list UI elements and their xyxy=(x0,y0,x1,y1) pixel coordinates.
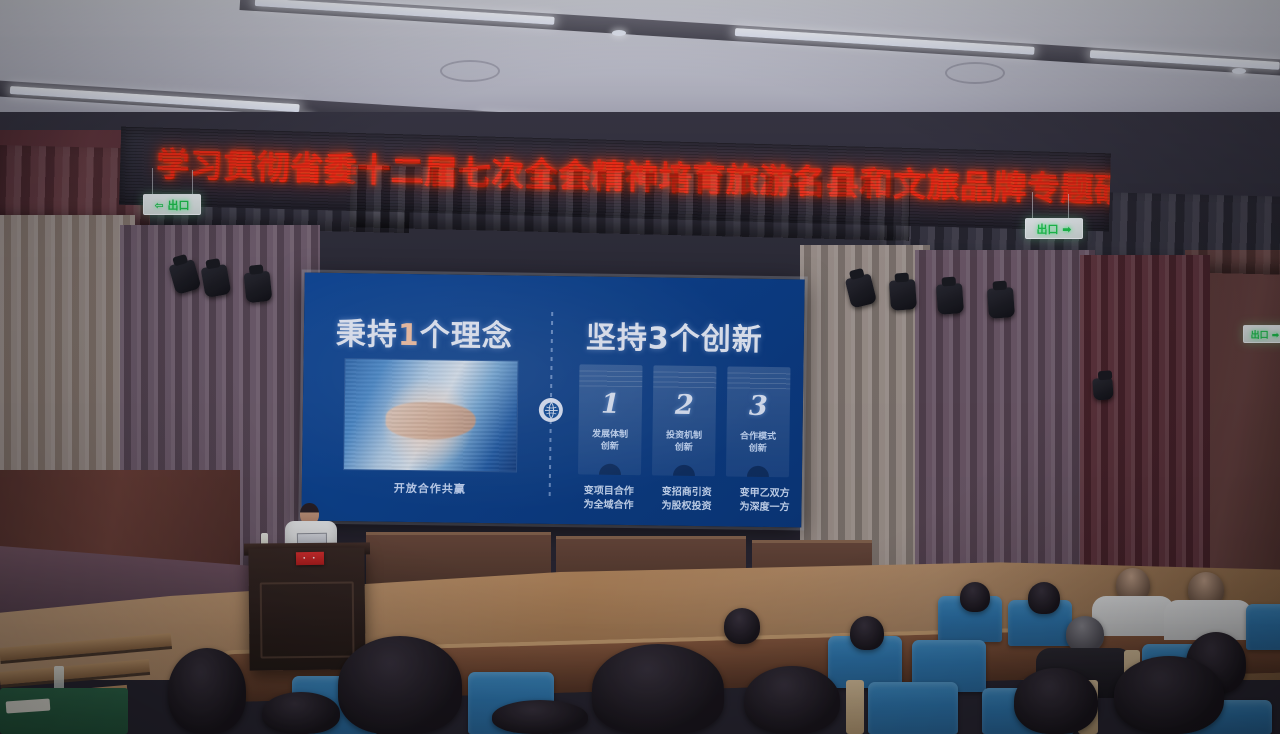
audience-head-foreground xyxy=(492,700,588,734)
innovation-cards: 1 发展体制 创新 2 投资机制 创新 xyxy=(578,364,791,477)
audience-head xyxy=(1066,616,1104,652)
handshake-photo-caption: 开放合作共赢 xyxy=(344,479,516,497)
auditorium-seat[interactable] xyxy=(1246,604,1280,650)
stage-step xyxy=(0,659,150,688)
projection-screen: 秉持1个理念 坚持3个创新 开放合作共赢 1 发展体制 创新 xyxy=(301,273,804,528)
card-caption: 变甲乙双方 为深度一方 xyxy=(729,486,799,515)
card-caption: 变招商引资 为股权投资 xyxy=(651,485,721,514)
globe-icon xyxy=(539,398,563,422)
slide-heading-left-number: 1 xyxy=(398,318,420,353)
audience-head xyxy=(960,582,990,612)
card-label: 发展体制 创新 xyxy=(592,429,628,454)
card-label: 投资机制 创新 xyxy=(666,430,702,455)
exit-sign-far-right: 出口 ➡ xyxy=(1243,325,1280,343)
exit-sign-hanger xyxy=(1032,192,1033,218)
stage-light-fixture xyxy=(987,287,1015,319)
exit-sign-right: 出口 ➡ xyxy=(1025,218,1083,239)
conference-hall-photo: 学习贯彻省委十二届七次全会精神培育旅游名县和文旅品牌专题研讨班 ⇦ 出口 出口 … xyxy=(0,0,1280,734)
audience-head xyxy=(1028,582,1060,614)
exit-sign-hanger xyxy=(152,168,153,194)
exit-sign-hanger xyxy=(192,170,193,196)
exit-icon: 出口 ➡ xyxy=(1251,328,1280,341)
stage-light-fixture xyxy=(1092,377,1113,400)
exit-sign-hanger xyxy=(1068,194,1069,220)
audience-head-foreground xyxy=(262,692,340,734)
audience-head-foreground xyxy=(168,648,246,734)
auditorium-seat[interactable] xyxy=(868,682,958,734)
stage-light-fixture xyxy=(936,283,964,315)
audience-head-foreground xyxy=(1114,656,1224,734)
podium-nameplate: • • xyxy=(296,552,324,565)
card-captions: 变项目合作 为全域合作 变招商引资 为股权投资 变甲乙双方 为深度一方 xyxy=(573,484,799,515)
innovation-card: 3 合作模式 创新 xyxy=(726,366,791,477)
exit-sign-left: ⇦ 出口 xyxy=(143,194,201,215)
slide-heading-right: 坚持3个创新 xyxy=(586,312,763,358)
podium xyxy=(248,547,365,670)
stage-light-fixture xyxy=(244,271,273,304)
audience-head xyxy=(724,608,760,644)
audience-head-foreground xyxy=(592,644,724,734)
audience-head-foreground xyxy=(744,666,840,734)
innovation-card: 1 发展体制 创新 xyxy=(578,364,643,475)
card-number: 3 xyxy=(749,391,768,422)
audience-head-foreground xyxy=(1014,668,1098,734)
stage-light-fixture xyxy=(201,264,232,298)
audience-head-foreground xyxy=(338,636,462,734)
card-number: 1 xyxy=(601,389,620,420)
seat-armrest xyxy=(846,680,864,734)
card-caption: 变项目合作 为全域合作 xyxy=(573,484,643,513)
exit-icon: 出口 ➡ xyxy=(1036,221,1071,237)
card-label: 合作模式 创新 xyxy=(740,431,776,456)
presentation-slide: 秉持1个理念 坚持3个创新 开放合作共赢 1 发展体制 创新 xyxy=(301,273,804,528)
audience-head xyxy=(850,616,884,650)
stage-light-fixture xyxy=(889,279,917,311)
card-number: 2 xyxy=(675,390,694,421)
audience-shoulders xyxy=(1092,596,1174,636)
handshake-photo xyxy=(344,359,518,471)
exit-icon: ⇦ 出口 xyxy=(154,197,189,213)
slide-heading-left: 秉持1个理念 xyxy=(336,309,513,355)
innovation-card: 2 投资机制 创新 xyxy=(652,365,717,476)
